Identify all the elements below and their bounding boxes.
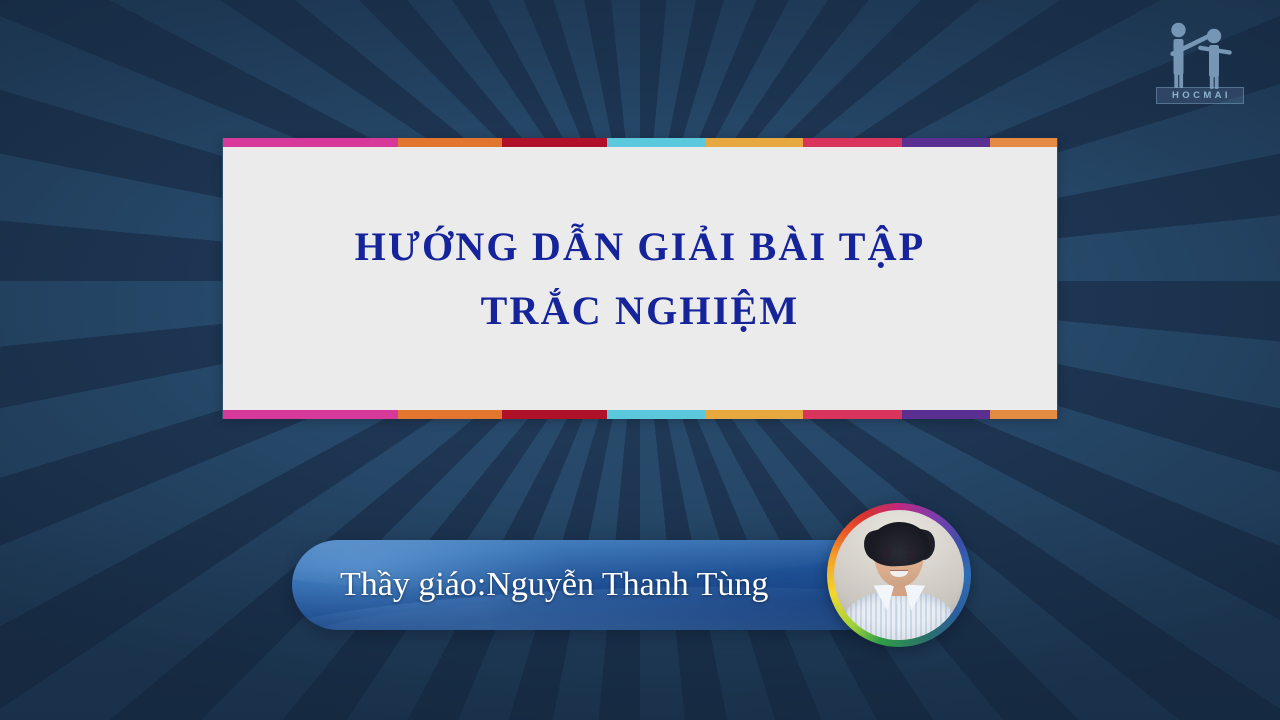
stripe-segment-orange-2 (990, 410, 1057, 419)
stripe-segment-dark-red (502, 410, 606, 419)
slide-title-line-1: HƯỚNG DẪN GIẢI BÀI TẬP (355, 226, 926, 268)
stripe-segment-purple (902, 410, 990, 419)
stripe-segment-magenta (223, 138, 398, 147)
stripe-segment-crimson (803, 138, 901, 147)
stripe-segment-cyan (607, 138, 705, 147)
stripe-segment-dark-red (502, 138, 606, 147)
teacher-name-label: Thầy giáo:Nguyễn Thanh Tùng (292, 540, 892, 630)
stripe-segment-magenta (223, 410, 398, 419)
stripe-segment-purple (902, 138, 990, 147)
stripe-segment-cyan (607, 410, 705, 419)
stripe-segment-gold (705, 410, 803, 419)
teacher-avatar-photo (834, 510, 964, 640)
slide-stage: HOCMAI HƯỚNG DẪN GIẢI BÀI TẬP TRẮC NGHIỆ… (0, 0, 1280, 720)
stripe-bar-top (223, 138, 1057, 147)
title-card: HƯỚNG DẪN GIẢI BÀI TẬP TRẮC NGHIỆM (222, 138, 1058, 419)
stripe-segment-orange-2 (990, 138, 1057, 147)
stripe-segment-orange (398, 138, 502, 147)
hocmai-logo: HOCMAI (1150, 16, 1250, 106)
teacher-name-banner: Thầy giáo:Nguyễn Thanh Tùng (292, 540, 892, 630)
title-card-body: HƯỚNG DẪN GIẢI BÀI TẬP TRẮC NGHIỆM (223, 147, 1057, 410)
stripe-bar-bottom (223, 410, 1057, 419)
teacher-avatar-ring (827, 503, 971, 647)
stripe-segment-orange (398, 410, 502, 419)
stripe-segment-gold (705, 138, 803, 147)
stripe-segment-crimson (803, 410, 901, 419)
hocmai-wordmark: HOCMAI (1156, 87, 1244, 104)
slide-title-line-2: TRẮC NGHIỆM (481, 290, 800, 332)
avatar-vignette (834, 510, 964, 640)
